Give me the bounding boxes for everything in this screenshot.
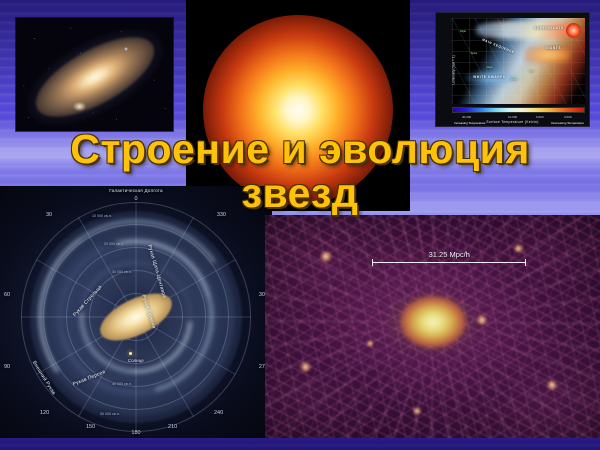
hr-xtick-3: 3,000 [564,115,572,119]
mw-degree-240: 240 [214,410,223,416]
hr-xtick-2: 6,000 [536,115,544,119]
mw-degree-90: 90 [4,364,10,370]
hr-xtick-1: 10,000 [508,115,517,119]
mw-degree-30: 30 [46,212,52,218]
hr-xtick-0: 30,000 [462,115,471,119]
hr-green-label-1: Spica [471,52,478,55]
hr-label-supergiants: SUPERGIANTS [534,26,564,30]
mw-degree-210: 210 [168,424,177,430]
cosmic-web-knot-2 [513,244,524,253]
mw-degree-120: 120 [40,410,49,416]
hr-green-label-0: Rigel [460,30,466,33]
mw-distance-2: 30 000 св.л. [112,270,132,274]
hr-arrow-right-label: Decreasing Temperature [551,121,584,125]
mw-distance-4: 50 000 св.л. [100,412,120,416]
mw-distance-1: 20 000 св.л. [104,242,124,246]
milky-way-map-image: Галактическая Долгота Рукав Щита-Центавр… [0,186,272,438]
hr-green-label-4: Sun [529,70,534,73]
hr-arrow-left-label: Increasing Temperature [454,121,485,125]
cosmic-web-knot-7 [366,340,374,347]
andromeda-galaxy-image [16,18,173,131]
cosmic-web-knot-4 [299,362,312,372]
hr-label-giants: GIANTS [545,46,561,50]
mw-degree-0: 0 [134,196,137,202]
cosmic-web-scale-label: 31.25 Mpc/h [429,250,470,259]
mw-distance-0: 10 000 св.л. [92,214,112,218]
mw-degree-330: 330 [217,212,226,218]
presentation-slide: SUPERGIANTS MAIN SEQUENCE GIANTS WHITE D… [0,0,600,450]
milky-way-title: Галактическая Долгота [109,188,163,193]
mw-distance-3: 40 000 св.л. [112,382,132,386]
star-image [186,0,410,211]
hr-diagram-plot: SUPERGIANTS MAIN SEQUENCE GIANTS WHITE D… [452,18,585,104]
mw-sun-label: Солнце [128,358,144,363]
hr-spectral-colorbar [452,107,585,113]
mw-degree-180: 180 [131,430,140,436]
hr-label-white-dwarfs: WHITE DWARFS [473,75,505,79]
cosmic-web-image: 31.25 Mpc/h [265,215,600,438]
mw-degree-60: 60 [4,292,10,298]
hr-green-label-2: Vega [487,66,493,69]
cosmic-web-scale-bar: 31.25 Mpc/h [372,262,526,263]
mw-degree-150: 150 [86,424,95,430]
hr-green-label-3: Sirius [511,78,518,81]
star-glow [203,15,393,205]
cosmic-web-central-cluster [400,296,466,348]
cosmic-web-knot-1 [319,251,333,262]
hr-diagram-image: SUPERGIANTS MAIN SEQUENCE GIANTS WHITE D… [435,12,590,127]
hr-supergiants-band [476,21,577,38]
andromeda-companion-galaxy [73,102,86,111]
cosmic-web-scale-line [372,262,526,263]
hr-y-axis-label: Luminosity (Sun = 1) [452,55,456,84]
